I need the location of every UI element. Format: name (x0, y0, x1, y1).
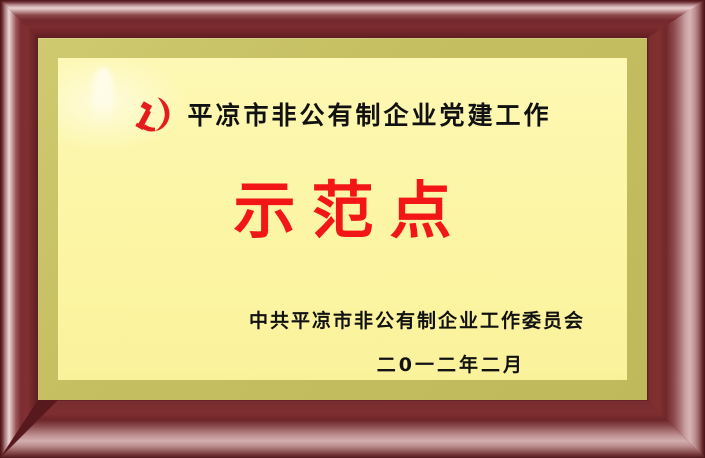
gold-mat-border: 平凉市非公有制企业党建工作 示范点 中共平凉市非公有制企业工作委员会 二0一二年… (38, 38, 647, 400)
frame-top-bevel (0, 0, 705, 38)
certificate-panel: 平凉市非公有制企业党建工作 示范点 中共平凉市非公有制企业工作委员会 二0一二年… (58, 58, 627, 380)
plaque-title: 平凉市非公有制企业党建工作 (187, 103, 551, 128)
frame-bottom-bevel (0, 400, 705, 458)
issuing-organization: 中共平凉市非公有制企业工作委员会 (249, 306, 585, 333)
award-designation: 示范点 (58, 180, 627, 242)
issue-date: 二0一二年二月 (377, 350, 525, 377)
frame-left-bevel (0, 0, 38, 458)
frame-right-bevel (647, 0, 705, 458)
award-plaque: 平凉市非公有制企业党建工作 示范点 中共平凉市非公有制企业工作委员会 二0一二年… (0, 0, 705, 458)
title-row: 平凉市非公有制企业党建工作 (58, 96, 627, 134)
hammer-and-sickle-icon (133, 94, 173, 134)
